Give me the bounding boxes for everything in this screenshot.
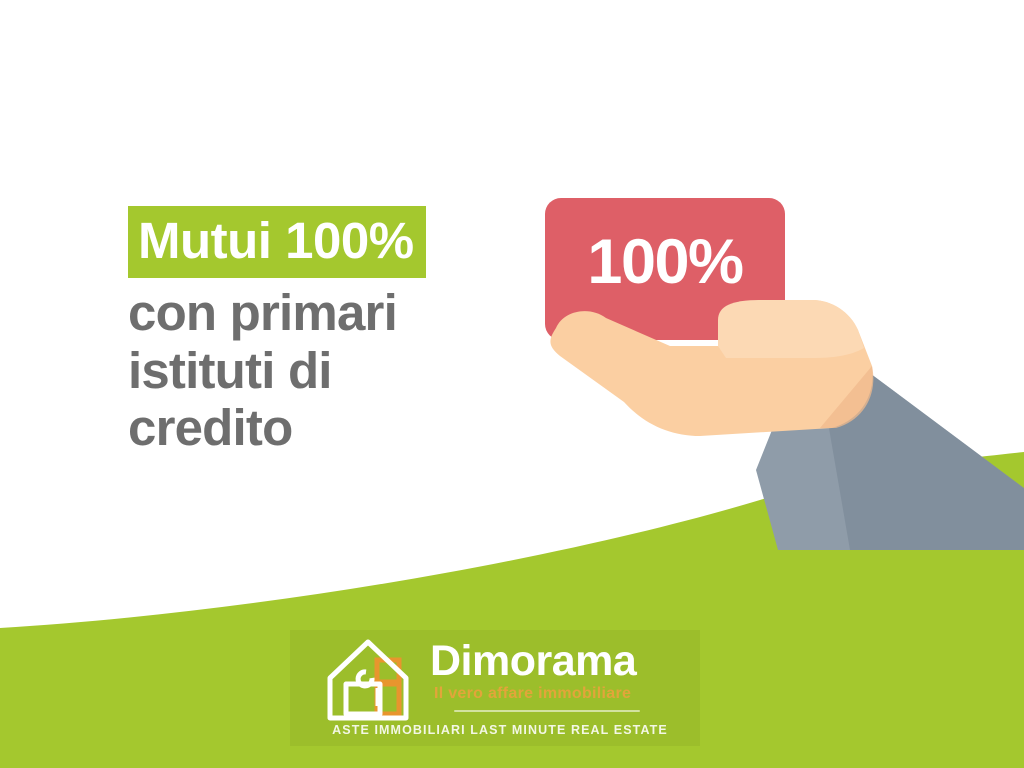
hand-icon xyxy=(520,170,1024,550)
house-outline-icon xyxy=(322,634,422,726)
logo-wordmark: Dimorama xyxy=(430,640,636,683)
logo-footer-text: ASTE IMMOBILIARI LAST MINUTE REAL ESTATE xyxy=(330,724,670,737)
headline-highlighted-line: Mutui 100% xyxy=(128,206,426,278)
promo-banner: Mutui 100% con primari istituti di credi… xyxy=(0,0,1024,768)
logo-tagline: Il vero affare immobiliare xyxy=(434,686,631,702)
headline-line-1: con primari xyxy=(128,284,548,342)
headline-block: Mutui 100% con primari istituti di credi… xyxy=(128,206,548,457)
headline-line-2: istituti di xyxy=(128,342,548,400)
headline-body: con primari istituti di credito xyxy=(128,284,548,457)
headline-line-3: credito xyxy=(128,399,548,457)
hand-holding-card-illustration: 100% xyxy=(520,170,1024,550)
headline-highlight-wrap: Mutui 100% xyxy=(128,206,548,278)
logo-divider-rule xyxy=(454,710,640,712)
brand-logo: Dimorama Il vero affare immobiliare ASTE… xyxy=(322,632,672,752)
